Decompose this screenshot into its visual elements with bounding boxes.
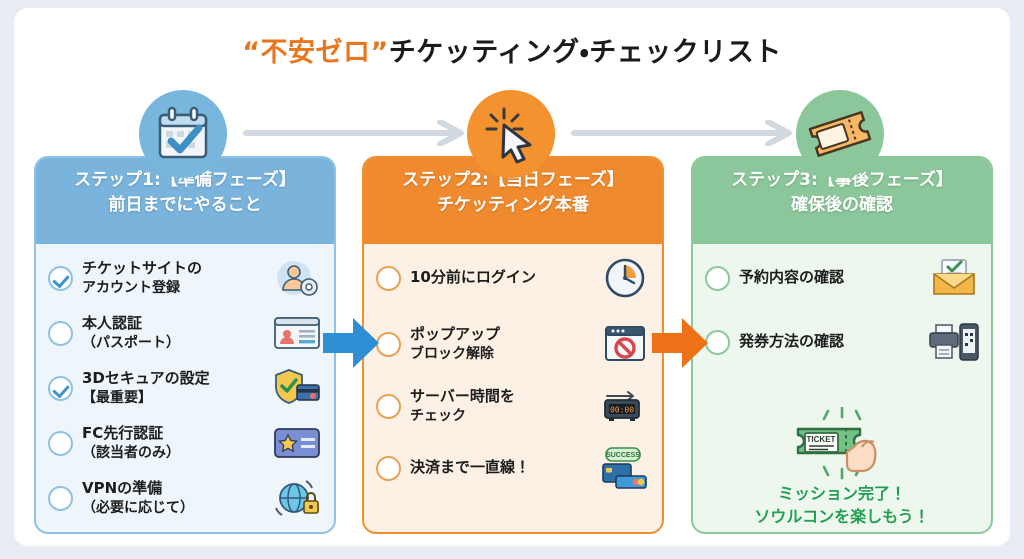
checklist-label: VPNの準備 （必要に応じて） (82, 479, 270, 517)
checkbox-unchecked-icon[interactable] (376, 456, 401, 481)
step-badge-2 (467, 90, 555, 178)
big-arrow-1 (321, 314, 383, 372)
checklist-item[interactable]: サーバー時間を チェック 00:00 (376, 384, 652, 428)
thin-arrow-2 (570, 120, 800, 146)
credit-cards-success-icon: SUCCESS (598, 446, 652, 490)
checklist-label-main: チケットサイトの (82, 259, 202, 277)
ticket-icon (807, 106, 873, 162)
globe-lock-icon (270, 476, 324, 520)
checklist-label-main: ポップアップ (410, 325, 500, 343)
step-1-checklist: チケットサイトの アカウント登録 本人認証 （ (36, 244, 334, 534)
checklist-label: ポップアップ ブロック解除 (410, 325, 598, 363)
checklist-label-sub: ブロック解除 (410, 345, 598, 363)
step-badge-1 (139, 90, 227, 178)
step-badge-3 (796, 90, 884, 178)
finale-line2: ソウルコンを楽しもう！ (693, 505, 991, 528)
calendar-check-icon (152, 103, 214, 165)
checklist-label: 決済まで一直線！ (410, 458, 598, 478)
step-card-2: ステップ2:【当日フェーズ】 チケッティング本番 10分前にログイン (362, 156, 664, 534)
membership-card-icon (270, 421, 324, 465)
checklist-item[interactable]: 決済まで一直線！ SUCCESS (376, 446, 652, 490)
checklist-item[interactable]: ポップアップ ブロック解除 (376, 322, 652, 366)
step-card-1: ステップ1:【準備フェーズ】 前日までにやること チケットサイトの アカウント登… (34, 156, 336, 534)
step-3-heading-line2: 確保後の確認 (693, 193, 991, 218)
checklist-label-sub: 【最重要】 (82, 389, 270, 407)
digital-clock-icon: 00:00 (598, 384, 652, 428)
checklist-label: 予約内容の確認 (739, 268, 927, 288)
step-3-finale: TICKET ミッション完了！ ソウルコンを楽しもう！ (693, 406, 991, 528)
checklist-label-sub: アカウント登録 (82, 279, 270, 297)
step-1-heading-line2: 前日までにやること (36, 193, 334, 218)
checklist-label-sub: （必要に応じて） (82, 499, 270, 517)
checklist-item[interactable]: FC先行認証 （該当者のみ） (48, 421, 324, 465)
checklist-label: サーバー時間を チェック (410, 387, 598, 425)
checklist-label-main: 本人認証 (82, 314, 142, 332)
checkbox-unchecked-icon[interactable] (376, 266, 401, 291)
checklist-label-main: 10分前にログイン (410, 268, 536, 286)
title-rest: チケッティング・チェックリスト (389, 37, 782, 68)
checklist-label-main: 予約内容の確認 (739, 268, 844, 286)
hand-holding-ticket-icon: TICKET (693, 406, 991, 482)
checklist-label: チケットサイトの アカウント登録 (82, 259, 270, 297)
checklist-item[interactable]: 10分前にログイン (376, 256, 652, 300)
thin-arrow-1 (242, 120, 472, 146)
finale-line1: ミッション完了！ (693, 482, 991, 505)
checklist-label-main: サーバー時間を (410, 387, 515, 405)
checkbox-unchecked-icon[interactable] (48, 321, 73, 346)
checkbox-unchecked-icon[interactable] (48, 431, 73, 456)
checklist-label: 3Dセキュアの設定 【最重要】 (82, 369, 270, 407)
checklist-label-sub: チェック (410, 407, 598, 425)
cursor-click-icon (480, 103, 542, 165)
ticket-label: TICKET (807, 435, 836, 444)
checklist-label-sub: （該当者のみ） (82, 444, 270, 462)
title-accent: “不安ゼロ” (242, 37, 389, 68)
checklist-label-main: VPNの準備 (82, 479, 162, 497)
shield-card-icon (270, 366, 324, 410)
checklist-label: 本人認証 （パスポート） (82, 314, 270, 352)
checklist-item[interactable]: 発券方法の確認 (705, 320, 981, 364)
checkbox-checked-icon[interactable] (48, 266, 73, 291)
checklist-label-sub: （パスポート） (82, 334, 270, 352)
svg-text:00:00: 00:00 (610, 406, 634, 415)
checklist-item[interactable]: VPNの準備 （必要に応じて） (48, 476, 324, 520)
checklist-item[interactable]: 3Dセキュアの設定 【最重要】 (48, 366, 324, 410)
finale-message: ミッション完了！ ソウルコンを楽しもう！ (693, 482, 991, 528)
infographic-page: “不安ゼロ”チケッティング・チェックリスト (14, 8, 1010, 546)
mail-confirm-icon (927, 256, 981, 300)
printer-mobile-icon (927, 320, 981, 364)
step-card-3: ステップ3:【事後フェーズ】 確保後の確認 予約内容の確認 (691, 156, 993, 534)
popup-block-icon (598, 322, 652, 366)
checklist-label: 10分前にログイン (410, 268, 598, 288)
clock-icon (598, 256, 652, 300)
step-2-checklist: 10分前にログイン ポップアップ ブロック解除 (364, 244, 662, 534)
page-title: “不安ゼロ”チケッティング・チェックリスト (14, 30, 1010, 69)
user-account-settings-icon (270, 256, 324, 300)
checkbox-unchecked-icon[interactable] (48, 486, 73, 511)
checklist-item[interactable]: チケットサイトの アカウント登録 (48, 256, 324, 300)
checklist-label-main: 3Dセキュアの設定 (82, 369, 210, 387)
checklist-label-main: 発券方法の確認 (739, 332, 844, 350)
step-2-heading-line2: チケッティング本番 (364, 193, 662, 218)
checklist-label: FC先行認証 （該当者のみ） (82, 424, 270, 462)
checklist-label-main: 決済まで一直線！ (410, 458, 530, 476)
checklist-label-main: FC先行認証 (82, 424, 163, 442)
svg-text:SUCCESS: SUCCESS (606, 452, 640, 459)
id-card-icon (270, 311, 324, 355)
checkbox-checked-icon[interactable] (48, 376, 73, 401)
checkbox-unchecked-icon[interactable] (376, 394, 401, 419)
step-3-checklist: 予約内容の確認 発券方法の確認 (693, 244, 991, 534)
checklist-item[interactable]: 本人認証 （パスポート） (48, 311, 324, 355)
checkbox-unchecked-icon[interactable] (705, 266, 730, 291)
checklist-item[interactable]: 予約内容の確認 (705, 256, 981, 300)
checklist-label: 発券方法の確認 (739, 332, 927, 352)
big-arrow-2 (650, 314, 712, 372)
